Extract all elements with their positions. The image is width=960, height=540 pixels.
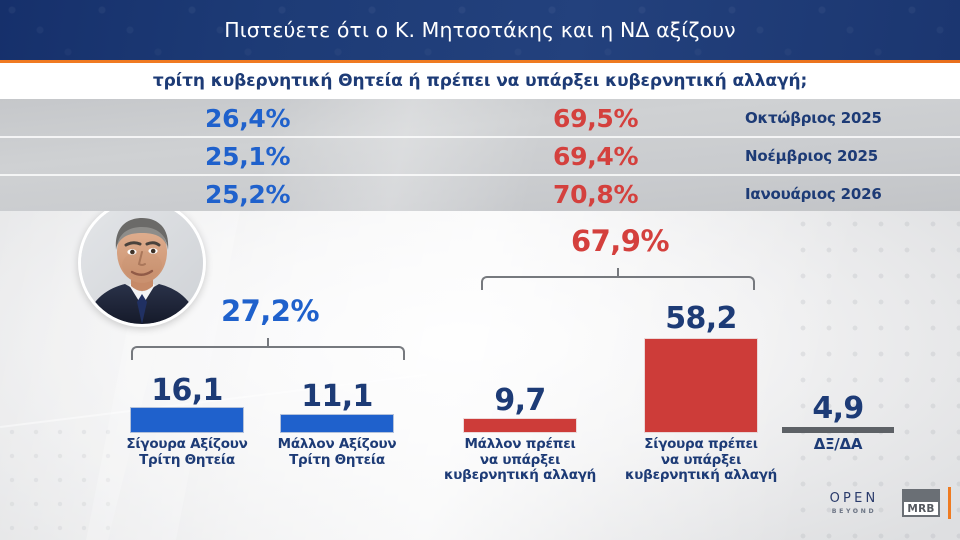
table-row: 25,1% 69,4% Νοέμβριος 2025 (0, 138, 960, 174)
bar-value-1: 11,1 (281, 379, 393, 414)
bar-caption-4: ΔΞ/ΔΑ (782, 437, 894, 453)
bracket-blue (131, 342, 405, 358)
bar-value-2: 9,7 (464, 383, 576, 418)
bar-3[interactable] (645, 339, 757, 432)
header-banner: Πιστεύετε ότι ο Κ. Μητσοτάκης και η ΝΔ α… (0, 0, 960, 60)
trend-approve-value: 25,2% (205, 180, 385, 209)
mrb-logo: MRB (902, 489, 940, 517)
bracket-red (481, 272, 755, 288)
trend-approve-value: 26,4% (205, 104, 385, 133)
page-title: Πιστεύετε ότι ο Κ. Μητσοτάκης και η ΝΔ α… (0, 0, 960, 60)
bar-2[interactable] (464, 419, 576, 432)
bar-1[interactable] (281, 415, 393, 432)
orange-accent-bar (948, 487, 951, 519)
mrb-wordmark: MRB (904, 502, 938, 515)
trend-approve-value: 25,1% (205, 142, 385, 171)
open-beyond-logo: OPEN BEYOND (820, 491, 888, 515)
beyond-wordmark: BEYOND (820, 508, 888, 515)
page-subtitle: τρίτη κυβερνητική Θητεία ή πρέπει να υπά… (153, 71, 807, 91)
group-total-red: 67,9% (540, 224, 700, 258)
group-total-blue: 27,2% (190, 294, 350, 328)
trend-table: 26,4% 69,5% Οκτώβριος 2025 25,1% 69,4% Ν… (0, 99, 960, 211)
bar-value-4: 4,9 (782, 391, 894, 426)
trend-change-value: 69,4% (553, 142, 733, 171)
open-wordmark: OPEN (820, 491, 888, 506)
bar-4[interactable] (782, 427, 894, 433)
poll-infographic: Πιστεύετε ότι ο Κ. Μητσοτάκης και η ΝΔ α… (0, 0, 960, 540)
bar-caption-3: Σίγουρα πρέπεινα υπάρξεικυβερνητική αλλα… (620, 437, 782, 484)
bar-caption-1: Μάλλον ΑξίζουνΤρίτη Θητεία (256, 437, 418, 468)
bar-caption-0: Σίγουρα ΑξίζουνΤρίτη Θητεία (106, 437, 268, 468)
table-row: 26,4% 69,5% Οκτώβριος 2025 (0, 100, 960, 136)
bar-value-0: 16,1 (131, 373, 243, 408)
subtitle-band: τρίτη κυβερνητική Θητεία ή πρέπει να υπά… (0, 63, 960, 99)
logo-group: OPEN BEYOND MRB (820, 487, 952, 527)
trend-change-value: 70,8% (553, 180, 733, 209)
trend-date-label: Ιανουάριος 2026 (745, 185, 955, 203)
trend-change-value: 69,5% (553, 104, 733, 133)
bar-caption-2: Μάλλον πρέπεινα υπάρξεικυβερνητική αλλαγ… (439, 437, 601, 484)
trend-date-label: Οκτώβριος 2025 (745, 109, 955, 127)
bar-0[interactable] (131, 408, 243, 432)
table-row: 25,2% 70,8% Ιανουάριος 2026 (0, 176, 960, 212)
bar-chart: 27,2% 67,9% 16,1 Σίγουρα ΑξίζουνΤρίτη Θη… (0, 211, 960, 540)
trend-date-label: Νοέμβριος 2025 (745, 147, 955, 165)
bar-value-3: 58,2 (645, 301, 757, 336)
